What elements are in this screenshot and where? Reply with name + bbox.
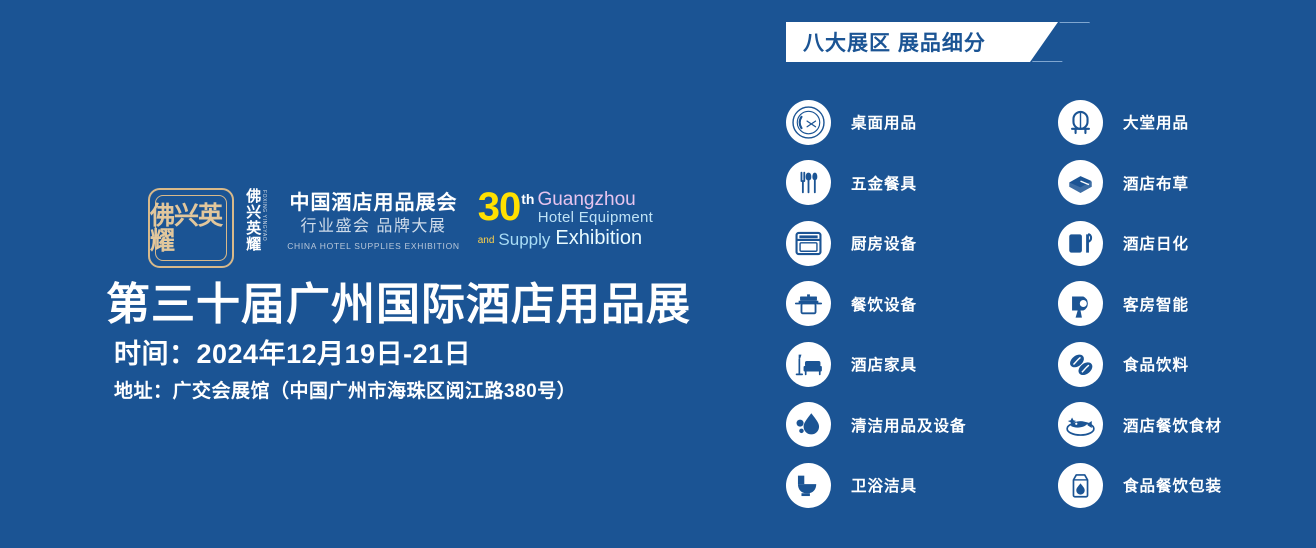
panel-banner: 八大展区 展品细分 — [786, 22, 1086, 62]
category-item[interactable]: 大堂用品 — [1058, 92, 1302, 153]
category-label: 酒店布草 — [1123, 172, 1189, 194]
category-item[interactable]: 食品餐饮包装 — [1058, 455, 1302, 516]
category-row: 酒店家具食品饮料 — [786, 334, 1306, 395]
brand-logo-row: 佛兴英耀 佛兴英耀 FOXING YINGYAO 中国酒店用品展会 行业盛会 品… — [148, 188, 653, 268]
category-item[interactable]: 清洁用品及设备 — [786, 395, 1030, 456]
edition-number: 30 — [478, 190, 521, 224]
coffee-beans-icon — [1058, 342, 1103, 387]
left-content: 佛兴英耀 佛兴英耀 FOXING YINGYAO 中国酒店用品展会 行业盛会 品… — [0, 0, 760, 548]
category-label: 餐饮设备 — [851, 293, 917, 315]
toilet-icon — [786, 463, 831, 508]
water-drop-icon — [786, 402, 831, 447]
english-brand-block: 30 th Guangzhou Hotel Equipment and Supp… — [478, 188, 653, 248]
category-label: 五金餐具 — [851, 172, 917, 194]
brand-cn-line2: 行业盛会 品牌大展 — [287, 216, 460, 238]
luggage-cart-icon — [1058, 100, 1103, 145]
category-item[interactable]: 酒店日化 — [1058, 213, 1302, 274]
event-date: 时间：2024年12月19日-21日 — [114, 341, 471, 368]
category-item[interactable]: 卫浴洁具 — [786, 455, 1030, 516]
category-label: 清洁用品及设备 — [851, 414, 967, 436]
category-item[interactable]: 酒店家具 — [786, 334, 1030, 395]
brand-cn-line3: CHINA HOTEL SUPPLIES EXHIBITION — [287, 241, 460, 251]
category-item[interactable]: 餐饮设备 — [786, 274, 1030, 335]
seal-logo: 佛兴英耀 — [148, 188, 234, 268]
fish-plate-icon — [1058, 402, 1103, 447]
category-item[interactable]: 五金餐具 — [786, 153, 1030, 214]
category-item[interactable]: 食品饮料 — [1058, 334, 1302, 395]
category-label: 食品餐饮包装 — [1123, 474, 1222, 496]
brand-cn-line1: 中国酒店用品展会 — [287, 192, 460, 215]
en-line3: and Supply Exhibition — [478, 228, 653, 248]
category-label: 客房智能 — [1123, 293, 1189, 315]
paper-bag-icon — [1058, 463, 1103, 508]
category-item[interactable]: 客房智能 — [1058, 274, 1302, 335]
en-city: Guangzhou — [537, 190, 635, 209]
category-row: 卫浴洁具食品餐饮包装 — [786, 455, 1306, 516]
category-item[interactable]: 酒店餐饮食材 — [1058, 395, 1302, 456]
seal-side-cn: 佛兴英耀 — [244, 188, 260, 252]
category-row: 餐饮设备客房智能 — [786, 274, 1306, 335]
category-item[interactable]: 桌面用品 — [786, 92, 1030, 153]
banner-title: 八大展区 展品细分 — [803, 22, 986, 62]
sofa-lamp-icon — [786, 342, 831, 387]
cooking-pot-icon — [786, 281, 831, 326]
category-row: 桌面用品大堂用品 — [786, 92, 1306, 153]
category-label: 厨房设备 — [851, 232, 917, 254]
cutlery-set-icon — [786, 160, 831, 205]
category-row: 五金餐具酒店布草 — [786, 153, 1306, 214]
category-label: 食品饮料 — [1123, 353, 1189, 375]
en-line2: Hotel Equipment — [538, 210, 653, 227]
en-exhibition: Exhibition — [555, 228, 642, 248]
event-address: 地址：广交会展馆（中国广州市海珠区阅江路380号） — [114, 382, 576, 401]
poster-root: 佛兴英耀 佛兴英耀 FOXING YINGYAO 中国酒店用品展会 行业盛会 品… — [0, 0, 1316, 548]
en-and: and — [478, 236, 495, 246]
seal-glyph-text: 佛兴英耀 — [150, 203, 232, 253]
category-label: 酒店家具 — [851, 353, 917, 375]
edition-suffix: th — [521, 192, 534, 206]
en-supply: Supply — [498, 231, 550, 248]
category-row: 厨房设备酒店日化 — [786, 213, 1306, 274]
folded-linen-icon — [1058, 160, 1103, 205]
category-item[interactable]: 厨房设备 — [786, 213, 1030, 274]
category-row: 清洁用品及设备酒店餐饮食材 — [786, 395, 1306, 456]
oven-icon — [786, 221, 831, 266]
category-label: 大堂用品 — [1123, 111, 1189, 133]
category-label: 酒店日化 — [1123, 232, 1189, 254]
categories-panel: 八大展区 展品细分 桌面用品大堂用品五金餐具酒店布草厨房设备酒店日化餐饮设备客房… — [760, 0, 1316, 548]
category-label: 桌面用品 — [851, 111, 917, 133]
plate-cutlery-icon — [786, 100, 831, 145]
category-item[interactable]: 酒店布草 — [1058, 153, 1302, 214]
chinese-brand-block: 中国酒店用品展会 行业盛会 品牌大展 CHINA HOTEL SUPPLIES … — [287, 188, 460, 251]
seal-side-pinyin: FOXING YINGYAO — [261, 190, 267, 241]
hair-dryer-icon — [1058, 281, 1103, 326]
toiletries-bottle-icon — [1058, 221, 1103, 266]
category-grid: 桌面用品大堂用品五金餐具酒店布草厨房设备酒店日化餐饮设备客房智能酒店家具食品饮料… — [786, 92, 1306, 516]
category-label: 酒店餐饮食材 — [1123, 414, 1222, 436]
seal-side-text: 佛兴英耀 FOXING YINGYAO — [244, 188, 267, 252]
category-label: 卫浴洁具 — [851, 474, 917, 496]
page-title: 第三十届广州国际酒店用品展 — [106, 283, 691, 327]
